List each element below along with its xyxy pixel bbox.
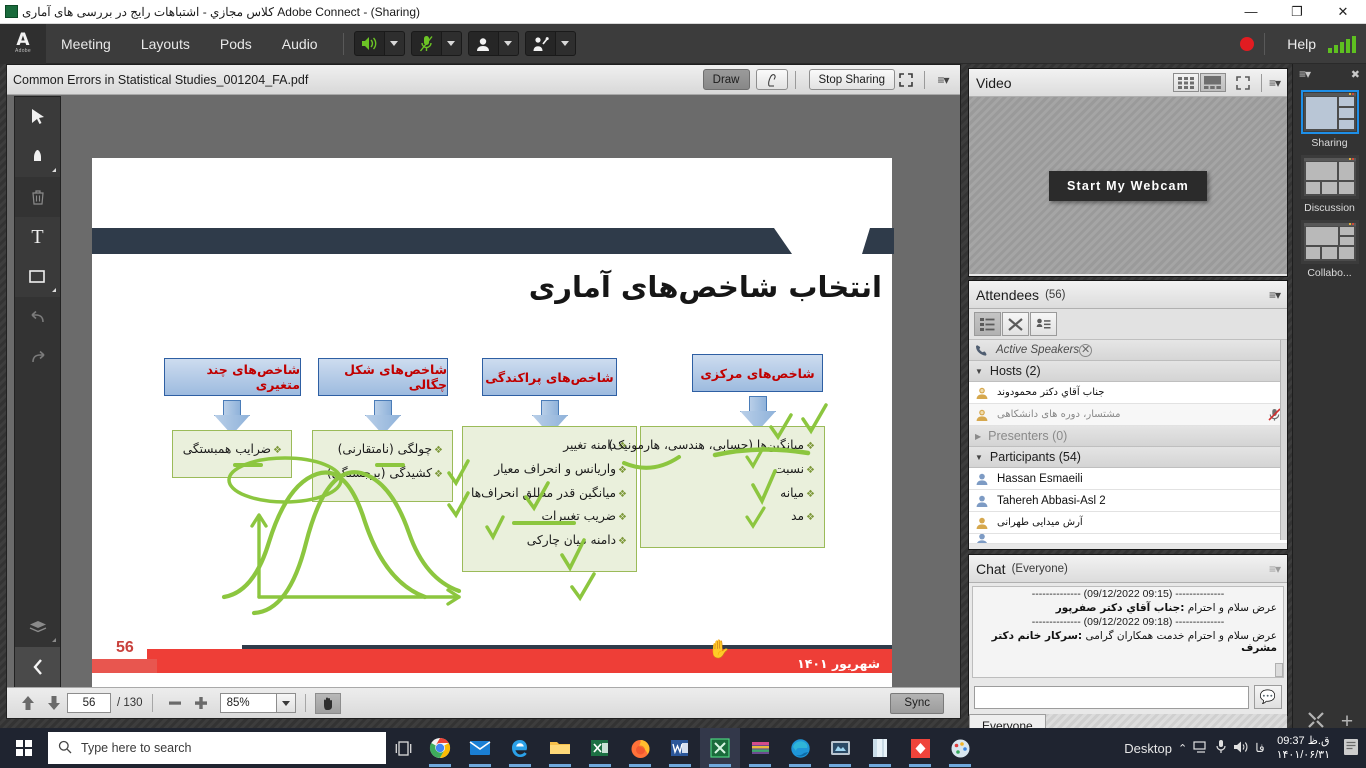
language-indicator[interactable]: فا xyxy=(1255,741,1264,755)
hand-cursor: ✋ xyxy=(708,639,730,660)
slide-decor-bar xyxy=(92,228,792,254)
raise-hand-dropdown[interactable] xyxy=(556,31,576,56)
slide-header-label: شاخص‌های چند متغیری xyxy=(165,362,300,392)
layout-bar-header: ≡▾ ✖ xyxy=(1293,64,1366,84)
attendee-group-label: Participants (54) xyxy=(990,450,1081,464)
fullscreen-icon[interactable] xyxy=(895,69,917,90)
chat-pod-title: Chat xyxy=(976,561,1006,577)
list-item: مد xyxy=(647,505,815,529)
webcam-button[interactable] xyxy=(468,31,499,56)
slide-viewport[interactable]: انتخاب شاخص‌های آماری شاخص‌های چند متغیر… xyxy=(63,96,960,718)
layers-tool[interactable] xyxy=(15,607,60,647)
chevron-down-icon[interactable] xyxy=(276,693,296,713)
video-pod-menu-icon[interactable]: ≡▾ xyxy=(1269,76,1280,90)
clock[interactable]: 09:37 ق.ظ ۱۴۰۱/۰۶/۳۱ xyxy=(1271,734,1336,762)
attendee-row[interactable]: Hassan Esmaeili xyxy=(969,468,1287,490)
clock-time: 09:37 ق.ظ xyxy=(1277,734,1330,748)
shared-document-title: Common Errors in Statistical Studies_001… xyxy=(13,73,697,87)
volume-icon[interactable] xyxy=(1233,740,1249,757)
attendee-row[interactable]: Tahereh Abbasi-Asl 2 xyxy=(969,490,1287,512)
page-number-input[interactable]: 56 xyxy=(67,693,111,713)
slide-header-label: شاخص‌های مرکزی xyxy=(700,366,814,381)
tray-overflow-icon[interactable]: ⌃ xyxy=(1178,742,1187,755)
page-total-label: / 130 xyxy=(117,697,143,709)
share-pod: Common Errors in Statistical Studies_001… xyxy=(6,64,961,719)
chat-pod-header: Chat (Everyone) ≡▾ xyxy=(969,555,1287,583)
menu-audio[interactable]: Audio xyxy=(267,24,333,64)
chrome-icon[interactable] xyxy=(420,728,460,768)
video-pod-header: Video ≡▾ xyxy=(969,69,1287,97)
adobe-connect-icon xyxy=(0,1,22,23)
network-icon[interactable] xyxy=(1193,740,1209,757)
slide-page-number: 56 xyxy=(116,639,134,657)
chat-message-list[interactable]: -------------- (09/12/2022 09:15) ------… xyxy=(972,586,1284,678)
start-button[interactable] xyxy=(0,728,48,768)
list-item: ضرایب همبستگی xyxy=(179,438,282,462)
raise-hand-control-group xyxy=(525,31,576,56)
chat-input-row: 💬 xyxy=(969,681,1287,714)
microphone-icon[interactable] xyxy=(1215,739,1227,757)
paint-icon[interactable] xyxy=(940,728,980,768)
shape-tool[interactable] xyxy=(15,257,60,297)
layout-label-discussion: Discussion xyxy=(1293,202,1366,214)
search-placeholder: Type here to search xyxy=(81,741,191,755)
menu-divider xyxy=(343,33,344,55)
desktop-label[interactable]: Desktop xyxy=(1124,741,1172,756)
slide-footer: شهریور ۱۴۰۱ 56 xyxy=(92,643,892,673)
speaker-dropdown[interactable] xyxy=(385,31,405,56)
window-title: (Sharing) - Adobe Connect کلاس مجازي - ا… xyxy=(22,5,424,19)
attendee-row[interactable]: آرش میدایی طهرانی xyxy=(969,512,1287,534)
active-speakers-close-icon[interactable]: ✕ xyxy=(1079,344,1092,357)
mail-icon[interactable] xyxy=(460,728,500,768)
search-icon xyxy=(58,740,72,757)
list-item: ضریب تغییرات xyxy=(469,505,627,529)
attendee-name: Hassan Esmaeili xyxy=(997,473,1083,485)
edge-icon[interactable] xyxy=(780,728,820,768)
slide-footer-tab xyxy=(92,659,157,673)
layout-thumb-sharing[interactable] xyxy=(1301,90,1359,134)
slide-list-central: میانگین‌ها (حسابی، هندسی، هارمونیک) نسبت… xyxy=(640,426,825,548)
layout-bar-menu-icon[interactable]: ≡▾ xyxy=(1299,67,1310,81)
slide-decor-bar-2 xyxy=(862,228,894,254)
attendees-pod-header: Attendees (56) ≡▾ xyxy=(969,281,1287,309)
firefox-icon[interactable] xyxy=(620,728,660,768)
attendees-pod-title: Attendees xyxy=(976,287,1039,303)
slide-header-central: شاخص‌های مرکزی xyxy=(692,354,823,392)
slide-header-multivariate: شاخص‌های چند متغیری xyxy=(164,358,301,396)
slide-footer-red: شهریور ۱۴۰۱ xyxy=(147,649,892,673)
attendees-scrollbar[interactable] xyxy=(1280,340,1287,540)
name-view-button[interactable] xyxy=(1030,312,1057,336)
layout-thumb-collaboration[interactable] xyxy=(1301,220,1359,264)
presentation-slide: انتخاب شاخص‌های آماری شاخص‌های چند متغیر… xyxy=(92,158,892,695)
attendee-row-partial[interactable] xyxy=(969,534,1287,544)
list-item: میانه xyxy=(647,482,815,506)
text-tool[interactable]: T xyxy=(15,217,60,257)
layout-label-collaboration: Collabo... xyxy=(1293,267,1366,279)
webcam-control-group xyxy=(468,31,519,56)
share-pod-menu-icon[interactable]: ≡▾ xyxy=(932,69,954,90)
onenote-icon[interactable] xyxy=(860,728,900,768)
down-arrow-icon[interactable] xyxy=(41,692,67,714)
sync-button[interactable]: Sync xyxy=(890,693,944,714)
zoom-out-button[interactable] xyxy=(162,692,188,714)
attendees-pod-menu-icon[interactable]: ≡▾ xyxy=(1269,288,1280,302)
list-item: میانگین‌ها (حسابی، هندسی، هارمونیک) xyxy=(647,434,815,458)
close-button[interactable]: ✕ xyxy=(1320,0,1366,24)
chevron-down-icon: ▼ xyxy=(975,367,983,376)
pencil-tool[interactable] xyxy=(15,137,60,177)
chat-message-sender: :جناب آقاي دكتر صفرپور xyxy=(1056,602,1185,614)
window-title-bar: (Sharing) - Adobe Connect کلاس مجازي - ا… xyxy=(0,0,1366,24)
zoom-level-value: 85% xyxy=(220,693,276,713)
chat-pod-menu-icon[interactable]: ≡▾ xyxy=(1269,562,1280,576)
chevron-right-icon: ▶ xyxy=(975,432,981,441)
undo-tool[interactable] xyxy=(15,297,60,337)
media-player-icon[interactable] xyxy=(820,728,860,768)
document-navigation-bar: 56 / 130 85% Sync xyxy=(7,687,960,718)
system-tray: Desktop ⌃ فا 09:37 ق.ظ ۱۴۰۱/۰۶/۳۱ xyxy=(1124,734,1366,762)
help-menu[interactable]: Help xyxy=(1275,36,1328,52)
adobe-logo: A Adobe xyxy=(0,24,46,64)
slide-header-label: شاخص‌های شکل چگالی xyxy=(319,362,447,392)
slide-header-label: شاخص‌های پراکندگی xyxy=(485,370,613,385)
microphone-dropdown[interactable] xyxy=(442,31,462,56)
attendee-group-hosts[interactable]: ▼ Hosts (2) xyxy=(969,361,1287,382)
layout-bar: ≡▾ ✖ Sharing Discussion xyxy=(1292,64,1366,744)
slide-footer-date: شهریور ۱۴۰۱ xyxy=(797,656,880,671)
search-input[interactable]: Type here to search xyxy=(48,732,386,764)
select-tool[interactable] xyxy=(15,97,60,137)
webcam-dropdown[interactable] xyxy=(499,31,519,56)
zoom-in-button[interactable] xyxy=(188,692,214,714)
raise-hand-button[interactable] xyxy=(525,31,556,56)
start-my-webcam-button[interactable]: Start My Webcam xyxy=(1049,171,1207,201)
chat-message-text: عرض سلام و احترام xyxy=(1188,602,1277,614)
winrar-icon[interactable] xyxy=(740,728,780,768)
attendees-pod: Attendees (56) ≡▾ Active Speakers xyxy=(968,280,1288,550)
pan-tool-button[interactable] xyxy=(315,693,341,714)
drawing-toolbar: T xyxy=(14,96,61,688)
stop-sharing-button[interactable]: Stop Sharing xyxy=(809,69,896,90)
chat-scope-label: (Everyone) xyxy=(1012,563,1068,575)
layout-bar-close-icon[interactable]: ✖ xyxy=(1351,68,1360,81)
slide-header-shape: شاخص‌های شکل چگالی xyxy=(318,358,448,396)
active-speakers-row: Active Speakers ✕ xyxy=(969,340,1287,361)
application-menu-bar: A Adobe Meeting Layouts Pods Audio Help xyxy=(0,24,1366,64)
excel-icon[interactable] xyxy=(580,728,620,768)
slide-list-shape: چولگی (نامتقارنی) کشیدگی (برجستگی) xyxy=(312,430,453,502)
video-fullscreen-icon[interactable] xyxy=(1232,72,1254,93)
windows-logo-icon xyxy=(16,740,32,756)
send-message-button[interactable]: 💬 xyxy=(1254,685,1282,709)
list-item: کشیدگی (برجستگی) xyxy=(319,462,443,486)
list-item: چولگی (نامتقارنی) xyxy=(319,438,443,462)
active-speakers-label: Active Speakers xyxy=(996,344,1079,356)
filmstrip-view-icon[interactable] xyxy=(1200,73,1226,92)
layout-thumb-discussion[interactable] xyxy=(1301,155,1359,199)
attendee-name: Tahereh Abbasi-Asl 2 xyxy=(997,495,1106,507)
attendee-group-presenters[interactable]: ▶ Presenters (0) xyxy=(969,426,1287,447)
chat-message-text: عرض سلام و احترام خدمت همکاران گرامی xyxy=(1085,630,1277,642)
attendee-group-label: Presenters (0) xyxy=(988,429,1067,443)
attendee-group-participants[interactable]: ▼ Participants (54) xyxy=(969,447,1287,468)
host-avatar-icon xyxy=(975,408,989,422)
layout-label-sharing: Sharing xyxy=(1293,137,1366,149)
minimize-button[interactable]: — xyxy=(1228,0,1274,24)
attendees-count: (56) xyxy=(1045,289,1065,301)
attendee-row[interactable]: جناب آقاي دكتر محمودوند xyxy=(969,382,1287,404)
attendee-name: مشتسار، دوره های دانشکاهی xyxy=(997,409,1120,420)
grid-view-icon[interactable] xyxy=(1173,73,1199,92)
chat-timestamp-divider: -------------- (09/12/2022 09:15) ------… xyxy=(973,587,1283,601)
connection-strength-icon xyxy=(1328,35,1366,53)
anydesk-icon[interactable] xyxy=(900,728,940,768)
slide-list-multivariate: ضرایب همبستگی xyxy=(172,430,292,478)
participant-avatar-icon xyxy=(975,516,989,530)
participant-avatar-icon xyxy=(975,472,989,486)
host-avatar-icon xyxy=(975,386,989,400)
chat-message: عرض سلام و احترام خدمت همکاران گرامی :سر… xyxy=(973,629,1283,655)
task-view-icon[interactable] xyxy=(386,728,420,768)
file-explorer-icon[interactable] xyxy=(540,728,580,768)
list-item: واریانس و انحراف معیار xyxy=(469,458,627,482)
word-icon[interactable] xyxy=(660,728,700,768)
up-arrow-icon[interactable] xyxy=(15,692,41,714)
adobe-logo-word: Adobe xyxy=(15,48,31,54)
meeting-stage: Common Errors in Statistical Studies_001… xyxy=(0,64,1366,744)
notifications-icon[interactable] xyxy=(1342,738,1360,759)
adobe-logo-letter: A xyxy=(16,33,29,48)
chevron-down-icon: ▼ xyxy=(975,453,983,462)
chat-timestamp-divider: -------------- (09/12/2022 09:18) ------… xyxy=(973,615,1283,629)
slide-title: انتخاب شاخص‌های آماری xyxy=(529,270,882,304)
internet-explorer-icon[interactable] xyxy=(500,728,540,768)
list-item: دامنه میان چارکی xyxy=(469,529,627,553)
slide-header-dispersion: شاخص‌های پراکندگی xyxy=(482,358,617,396)
list-item: نسبت xyxy=(647,458,815,482)
windows-taskbar: Type here to search xyxy=(0,728,1366,768)
share-pod-header: Common Errors in Statistical Studies_001… xyxy=(7,65,960,95)
list-view-button[interactable] xyxy=(974,312,1001,336)
chat-message: عرض سلام و احترام :جناب آقاي دكتر صفرپور xyxy=(973,601,1283,615)
video-pod-title: Video xyxy=(976,75,1012,91)
menu-pods[interactable]: Pods xyxy=(205,24,267,64)
menu-meeting[interactable]: Meeting xyxy=(46,24,126,64)
pointer-button[interactable] xyxy=(756,69,788,90)
phone-icon xyxy=(975,344,989,357)
attendee-group-label: Hosts (2) xyxy=(990,364,1041,378)
clock-date: ۱۴۰۱/۰۶/۳۱ xyxy=(1277,748,1330,762)
collapse-toolbar-button[interactable] xyxy=(15,647,60,687)
attendee-name: آرش میدایی طهرانی xyxy=(997,517,1083,528)
chat-scrollbar[interactable] xyxy=(1275,663,1283,677)
menu-layouts[interactable]: Layouts xyxy=(126,24,205,64)
maximize-button[interactable]: ❐ xyxy=(1274,0,1320,24)
draw-button[interactable]: Draw xyxy=(703,69,750,90)
adobe-connect-icon[interactable] xyxy=(700,728,740,768)
list-item: دامنه تغییر xyxy=(469,434,627,458)
list-item: میانگین قدر مطلق انحراف‌ها xyxy=(469,482,627,506)
right-pod-column: Video ≡▾ Start My Webcam At xyxy=(968,64,1288,719)
menu-divider-2 xyxy=(1264,33,1265,55)
video-pod-body: Start My Webcam xyxy=(969,97,1287,274)
toolbar-spacer xyxy=(15,377,60,607)
video-pod: Video ≡▾ Start My Webcam xyxy=(968,68,1288,277)
speaker-button[interactable] xyxy=(354,31,385,56)
chat-input[interactable] xyxy=(974,686,1249,709)
participant-avatar-icon xyxy=(975,494,989,508)
speaker-control-group xyxy=(354,31,405,56)
delete-tool[interactable] xyxy=(15,177,60,217)
microphone-control-group xyxy=(411,31,462,56)
zoom-level-select[interactable]: 85% xyxy=(220,693,296,713)
chat-pod: Chat (Everyone) ≡▾ -------------- (09/12… xyxy=(968,554,1288,716)
attendees-view-toolbar xyxy=(969,309,1287,340)
participant-avatar-icon xyxy=(975,534,989,544)
attendee-name: جناب آقاي دكتر محمودوند xyxy=(997,387,1104,398)
attendee-row[interactable]: مشتسار، دوره های دانشکاهی xyxy=(969,404,1287,426)
microphone-button[interactable] xyxy=(411,31,442,56)
status-view-button[interactable] xyxy=(1002,312,1029,336)
recording-indicator xyxy=(1240,37,1254,51)
redo-tool[interactable] xyxy=(15,337,60,377)
